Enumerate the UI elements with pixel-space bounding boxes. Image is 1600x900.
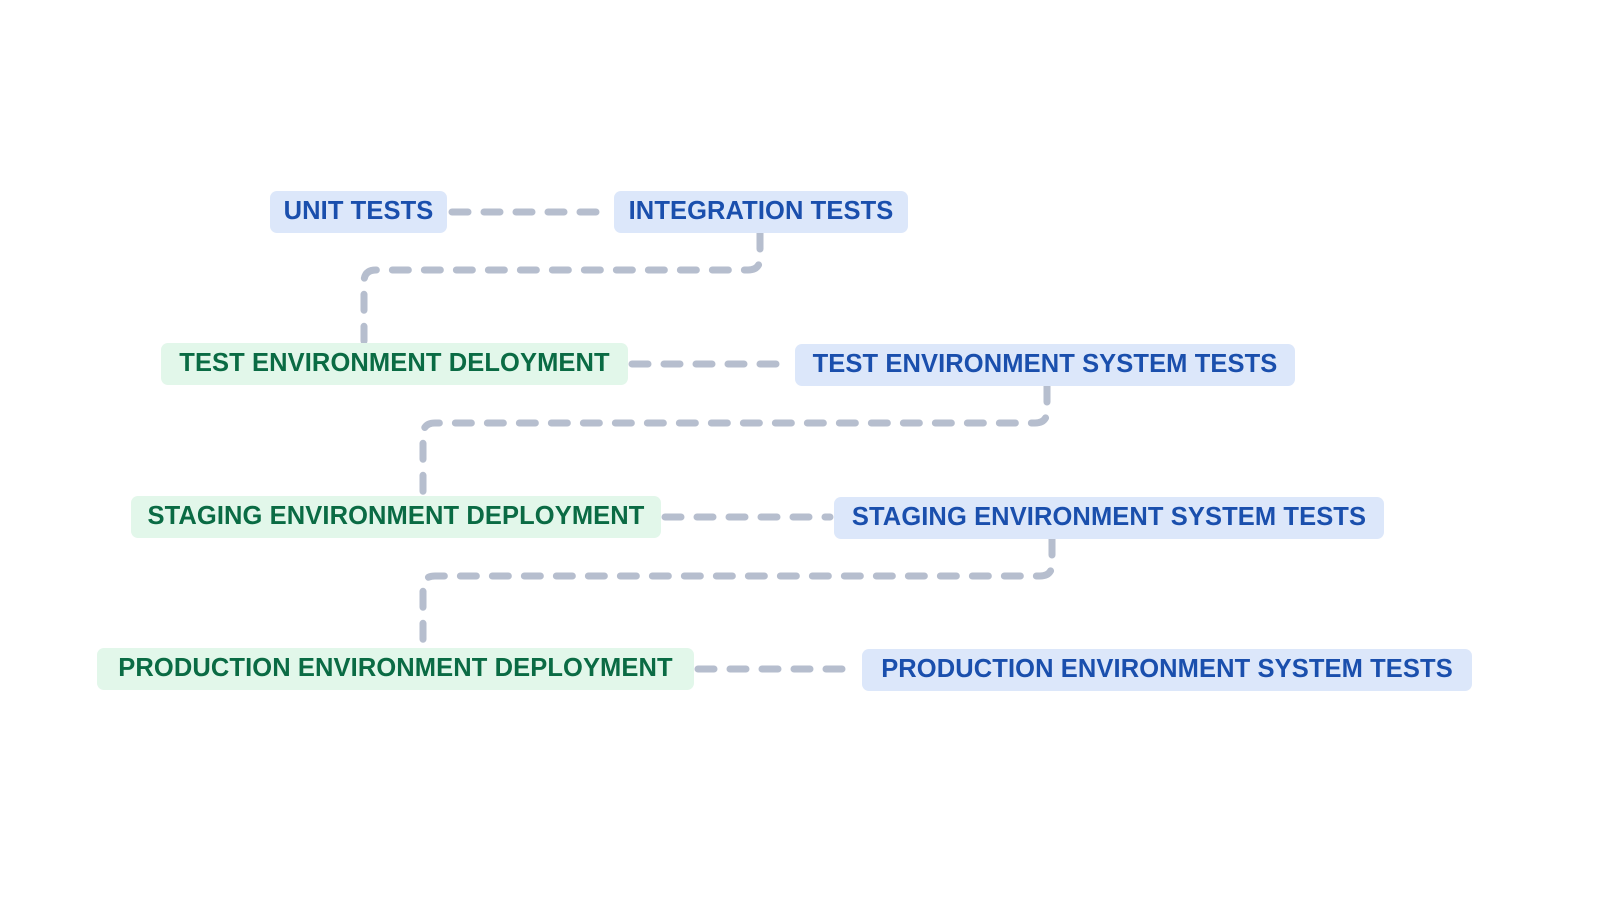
node-label: TEST ENVIRONMENT SYSTEM TESTS xyxy=(813,352,1278,378)
diagram-canvas: UNIT TESTSINTEGRATION TESTSTEST ENVIRONM… xyxy=(0,0,1600,900)
node-production-environment-deployment[interactable]: PRODUCTION ENVIRONMENT DEPLOYMENT xyxy=(97,648,694,690)
connector-staging-system-tests-to-production-deployment xyxy=(423,539,1052,646)
connector-test-system-tests-to-staging-deployment xyxy=(423,386,1047,494)
node-test-environment-system-tests[interactable]: TEST ENVIRONMENT SYSTEM TESTS xyxy=(795,344,1295,386)
node-unit-tests[interactable]: UNIT TESTS xyxy=(270,191,447,233)
node-label: PRODUCTION ENVIRONMENT DEPLOYMENT xyxy=(118,656,672,682)
node-label: STAGING ENVIRONMENT DEPLOYMENT xyxy=(148,504,645,530)
node-label: PRODUCTION ENVIRONMENT SYSTEM TESTS xyxy=(881,657,1453,683)
node-label: STAGING ENVIRONMENT SYSTEM TESTS xyxy=(852,505,1366,531)
node-label: UNIT TESTS xyxy=(284,199,434,225)
node-production-environment-system-tests[interactable]: PRODUCTION ENVIRONMENT SYSTEM TESTS xyxy=(862,649,1472,691)
node-label: TEST ENVIRONMENT DELOYMENT xyxy=(179,351,609,377)
node-label: INTEGRATION TESTS xyxy=(629,199,894,225)
connector-layer xyxy=(0,0,1600,900)
node-test-environment-deloyment[interactable]: TEST ENVIRONMENT DELOYMENT xyxy=(161,343,628,385)
node-staging-environment-system-tests[interactable]: STAGING ENVIRONMENT SYSTEM TESTS xyxy=(834,497,1384,539)
node-staging-environment-deployment[interactable]: STAGING ENVIRONMENT DEPLOYMENT xyxy=(131,496,661,538)
connector-integration-to-test-deployment xyxy=(364,233,760,341)
node-integration-tests[interactable]: INTEGRATION TESTS xyxy=(614,191,908,233)
